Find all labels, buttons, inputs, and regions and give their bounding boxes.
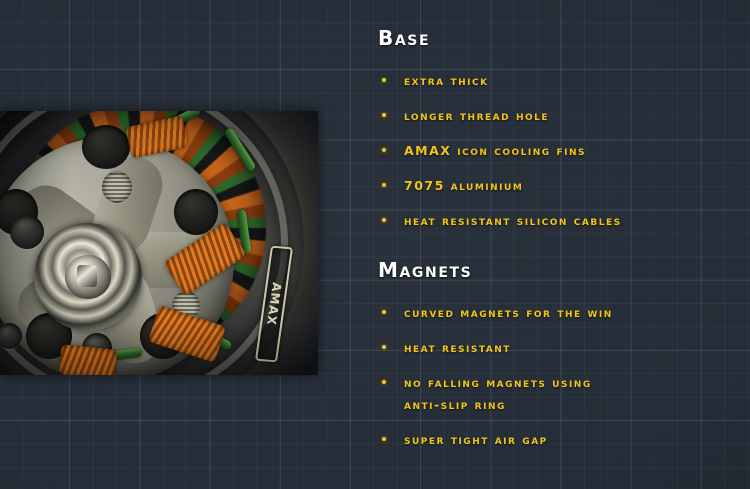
list-item: AMAX icon cooling fins: [378, 140, 728, 162]
bullet-dot-icon: [382, 310, 386, 314]
list-item-label: curved magnets for the win: [404, 302, 613, 324]
list-item-label: heat resistant: [404, 337, 511, 359]
motor-photo-body: AMAX: [0, 111, 318, 375]
bullet-dot-icon: [382, 345, 386, 349]
list-item-label: extra thick: [404, 70, 489, 92]
bullet-dot-icon: [382, 78, 386, 82]
bullet-dot-icon: [382, 113, 386, 117]
section-title-base: Base: [378, 28, 728, 48]
list-item-label: 7075 aluminium: [404, 175, 523, 197]
list-item-label: super tight air gap: [404, 429, 548, 451]
bullet-dot-icon: [382, 218, 386, 222]
bullet-dot-icon: [382, 380, 386, 384]
list-item-label: heat resistant silicon cables: [404, 210, 622, 232]
list-item-label: longer thread hole: [404, 105, 549, 127]
spec-section-magnets: Magnets curved magnets for the win heat …: [378, 260, 728, 451]
bullet-dot-icon: [382, 183, 386, 187]
list-item: heat resistant silicon cables: [378, 210, 728, 232]
motor-bearing: [34, 223, 142, 331]
amax-logo-text: AMAX: [264, 282, 284, 327]
specs-column: Base extra thick longer thread hole AMAX…: [378, 28, 728, 451]
product-feature-slide: AMAX Base extra thick: [0, 0, 750, 489]
mounting-hole: [10, 215, 44, 249]
bullet-dot-icon: [382, 437, 386, 441]
list-item-label-line2: anti-slip ring: [404, 394, 592, 416]
motor-shaft: [65, 255, 111, 299]
threaded-hole: [102, 171, 132, 203]
bullet-dot-icon: [382, 148, 386, 152]
list-item: no falling magnets using anti-slip ring: [378, 372, 728, 416]
copper-winding: [59, 344, 118, 375]
list-item: heat resistant: [378, 337, 728, 359]
section-title-magnets: Magnets: [378, 260, 728, 280]
list-item: 7075 aluminium: [378, 175, 728, 197]
list-item-label: AMAX icon cooling fins: [404, 140, 586, 162]
spec-section-base: Base extra thick longer thread hole AMAX…: [378, 28, 728, 232]
spec-list-magnets: curved magnets for the win heat resistan…: [378, 302, 728, 451]
list-item-label: no falling magnets using: [404, 372, 592, 394]
list-item: super tight air gap: [378, 429, 728, 451]
list-item: longer thread hole: [378, 105, 728, 127]
list-item: extra thick: [378, 70, 728, 92]
motor-photo: AMAX: [0, 111, 318, 375]
list-item: curved magnets for the win: [378, 302, 728, 324]
spec-list-base: extra thick longer thread hole AMAX icon…: [378, 70, 728, 232]
